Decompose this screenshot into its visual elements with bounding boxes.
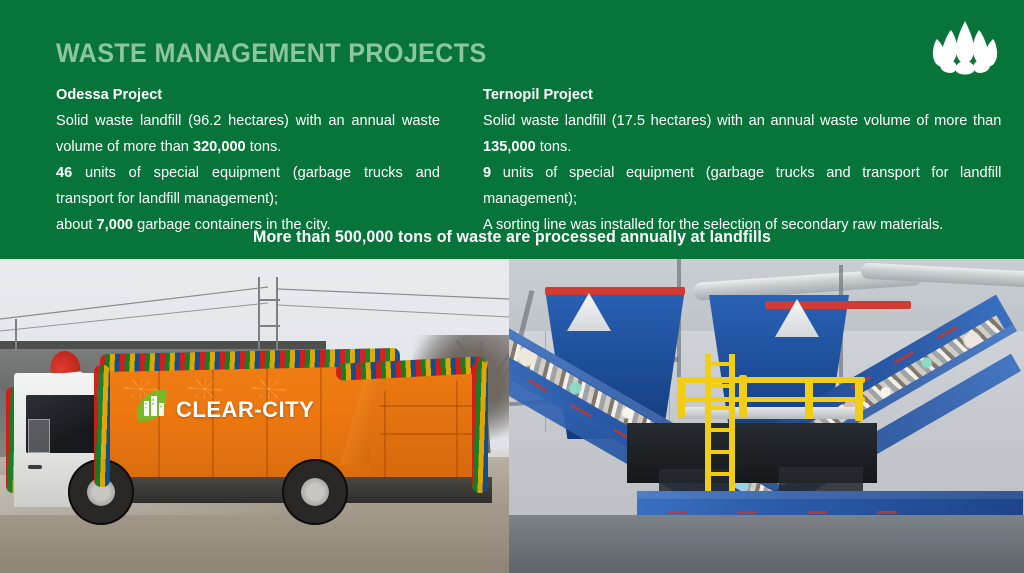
garbage-truck-photo: CLEAR-CITY — [0, 259, 509, 573]
odessa-p2-value: 46 — [56, 164, 72, 181]
odessa-p1-unit: tons. — [246, 138, 282, 155]
truck-tailgate — [370, 361, 488, 489]
hopper-rail-left — [545, 287, 685, 295]
garland-rear — [472, 361, 488, 493]
garbage-truck: CLEAR-CITY — [6, 329, 506, 529]
truck-brand-text: CLEAR-CITY — [176, 397, 314, 423]
odessa-paragraph-2: 46 units of special equipment (garbage t… — [56, 160, 440, 212]
ternopil-p1-unit: tons. — [536, 138, 572, 155]
ternopil-p1-value: 135,000 — [483, 138, 536, 155]
page-title: WASTE MANAGEMENT PROJECTS — [56, 38, 487, 69]
ternopil-paragraph-2: 9 units of special equipment (garbage tr… — [483, 160, 1001, 212]
waste-sorting-line-photo — [509, 259, 1024, 573]
ternopil-heading: Ternopil Project — [483, 82, 1001, 108]
summary-banner: More than 500,000 tons of waste are proc… — [0, 228, 1024, 247]
hopper-rail-right — [765, 301, 911, 309]
ternopil-column: Ternopil Project Solid waste landfill (1… — [483, 82, 1001, 238]
slide: WASTE MANAGEMENT PROJECTS — [0, 0, 1024, 573]
odessa-p2-text: units of special equipment (garbage truc… — [56, 164, 440, 207]
odessa-column: Odessa Project Solid waste landfill (96.… — [56, 82, 440, 238]
summary-banner-text: More than 500,000 tons of waste are proc… — [253, 228, 771, 247]
odessa-heading: Odessa Project — [56, 82, 440, 108]
ternopil-paragraph-1: Solid waste landfill (17.5 hectares) wit… — [483, 108, 1001, 160]
lotus-logo — [929, 17, 1001, 75]
photo-strip: CLEAR-CITY — [0, 259, 1024, 573]
lower-conveyor — [637, 491, 1023, 517]
cab-side-window — [28, 419, 50, 453]
factory-floor — [509, 515, 1024, 573]
odessa-p1-value: 320,000 — [193, 138, 246, 155]
ternopil-p2-text: units of special equipment (garbage truc… — [483, 164, 1001, 207]
truck-rear-wheel — [282, 459, 348, 525]
green-header-panel: WASTE MANAGEMENT PROJECTS — [0, 0, 1024, 259]
garland-front — [94, 365, 110, 487]
odessa-paragraph-1: Solid waste landfill (96.2 hectares) wit… — [56, 108, 440, 160]
clear-city-leaf-icon — [132, 385, 174, 425]
ternopil-p1-text: Solid waste landfill (17.5 hectares) wit… — [483, 112, 1001, 129]
cab-door-handle — [28, 465, 42, 469]
